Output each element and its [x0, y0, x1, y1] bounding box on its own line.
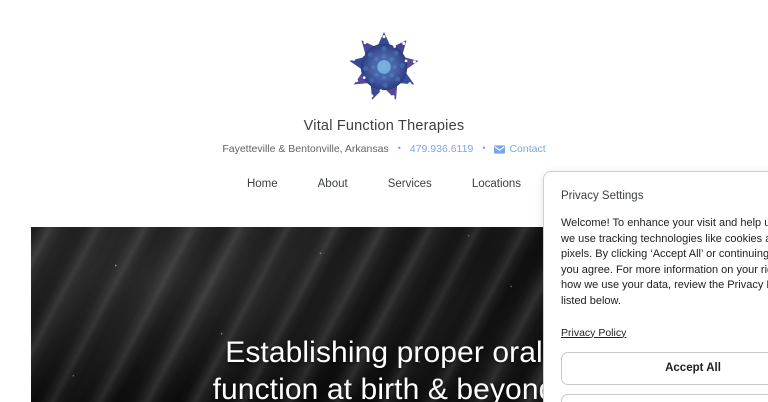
contact-link-label: Contact: [509, 144, 545, 155]
site-logo[interactable]: [338, 22, 430, 112]
accept-all-button[interactable]: Accept All: [561, 352, 768, 386]
privacy-settings-dialog: Privacy Settings Welcome! To enhance you…: [543, 171, 768, 402]
accept-essentials-only-button[interactable]: Accept Essentials Only: [561, 394, 768, 402]
nav-item-services[interactable]: Services: [368, 178, 452, 192]
privacy-dialog-body: Welcome! To enhance your visit and help …: [561, 216, 768, 310]
nav-item-locations[interactable]: Locations: [452, 178, 541, 192]
separator-dot-1: •: [389, 144, 410, 153]
phone-link[interactable]: 479.936.6119: [410, 144, 473, 155]
nav-item-about[interactable]: About: [298, 178, 368, 192]
contact-link[interactable]: Contact: [494, 144, 545, 155]
mandala-flower-logo-icon: [346, 29, 422, 105]
envelope-icon: [494, 145, 505, 154]
privacy-policy-link[interactable]: Privacy Policy: [561, 327, 626, 339]
service-area-text: Fayetteville & Bentonville, Arkansas: [222, 144, 388, 155]
nav-item-home[interactable]: Home: [227, 178, 298, 192]
header-contact-line: Fayetteville & Bentonville, Arkansas • 4…: [0, 144, 768, 155]
separator-dot-2: •: [473, 144, 494, 153]
page-root: Vital Function Therapies Fayetteville & …: [0, 0, 768, 402]
site-title: Vital Function Therapies: [0, 117, 768, 136]
site-header: Vital Function Therapies Fayetteville & …: [0, 0, 768, 192]
privacy-dialog-title: Privacy Settings: [561, 189, 768, 204]
